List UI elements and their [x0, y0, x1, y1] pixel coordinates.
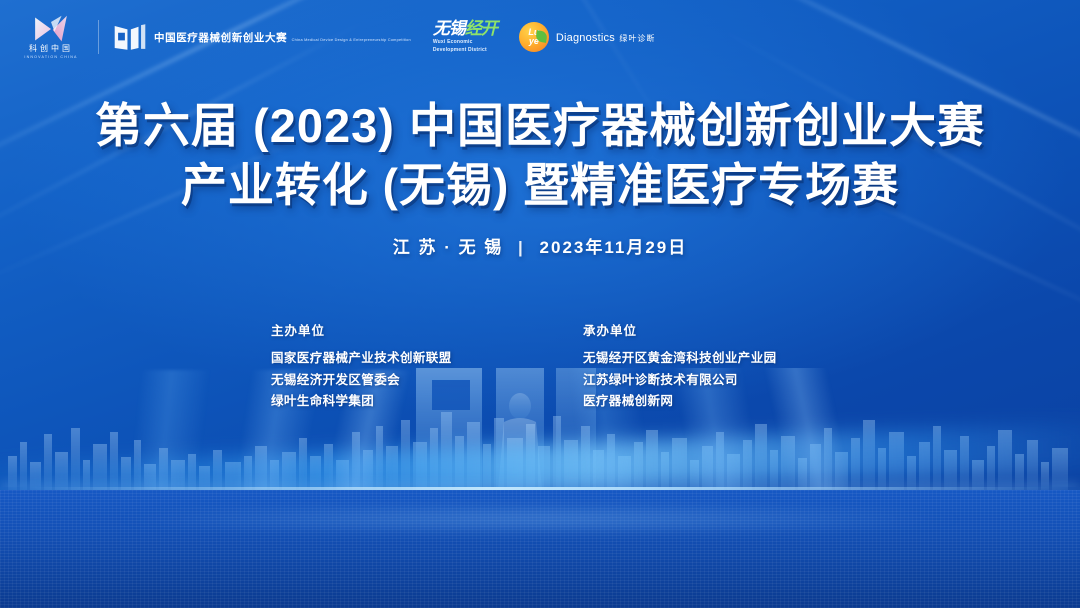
organizer-item: 无锡经济开发区管委会: [271, 370, 497, 392]
date-text: 2023年11月29日: [540, 238, 688, 257]
logo-luye-en: Diagnostics: [556, 32, 615, 44]
organizer-column-coorganizer: 承办单位 无锡经开区黄金湾科技创业产业园 江苏绿叶诊断技术有限公司 医疗器械创新…: [583, 320, 809, 413]
organizer-heading: 主办单位: [271, 320, 497, 339]
title-block: 第六届 (2023) 中国医疗器械创新创业大赛 产业转化 (无锡) 暨精准医疗专…: [0, 96, 1080, 258]
logo-wuxi-cn-part1: 无锡: [433, 19, 465, 38]
logo-innovation-china-en: INNOVATION CHINA: [24, 56, 77, 60]
luye-circle-icon: Lu ye: [519, 22, 549, 52]
date-location-bar: 江 苏 · 无 锡 | 2023年11月29日: [0, 233, 1080, 258]
logo-luye-text: Diagnostics 绿叶诊断: [556, 28, 656, 46]
organizer-item: 江苏绿叶诊断技术有限公司: [583, 370, 809, 392]
water-glow: [108, 504, 972, 534]
organizer-section: 主办单位 国家医疗器械产业技术创新联盟 无锡经济开发区管委会 绿叶生命科学集团 …: [0, 320, 1080, 413]
date-divider: |: [518, 238, 525, 258]
organizer-item: 无锡经开区黄金湾科技创业产业园: [583, 348, 809, 370]
bird-logo-icon: [31, 14, 71, 44]
logo-divider: [98, 20, 99, 54]
logo-cmdc: 中国医疗器械创新创业大赛 China Medical Device Design…: [113, 22, 411, 52]
sponsor-logo-bar: 科创中国 INNOVATION CHINA 中国医疗器械创新创业大赛 China…: [18, 14, 655, 60]
title-line-2: 产业转化 (无锡) 暨精准医疗专场赛: [0, 156, 1080, 215]
location-text: 江 苏 · 无 锡: [393, 238, 504, 257]
open-door-logo-icon: [113, 22, 147, 52]
logo-cmdc-cn: 中国医疗器械创新创业大赛: [154, 32, 287, 44]
event-poster: 科创中国 INNOVATION CHINA 中国医疗器械创新创业大赛 China…: [0, 0, 1080, 608]
logo-wuxi-cn-part2: 经开: [465, 19, 497, 38]
logo-cmdc-text: 中国医疗器械创新创业大赛 China Medical Device Design…: [154, 28, 411, 46]
organizer-item: 绿叶生命科学集团: [271, 391, 497, 413]
organizer-heading: 承办单位: [583, 320, 809, 339]
logo-luye-diagnostics: Lu ye Diagnostics 绿叶诊断: [519, 22, 656, 52]
organizer-item: 医疗器械创新网: [583, 391, 809, 413]
logo-innovation-china-cn: 科创中国: [29, 45, 73, 53]
logo-wuxi-en-line2: Development District: [433, 47, 487, 53]
logo-innovation-china: 科创中国 INNOVATION CHINA: [18, 14, 84, 60]
title-line-1: 第六届 (2023) 中国医疗器械创新创业大赛: [0, 96, 1080, 156]
logo-wuxi-edd: 无锡经开 Wuxi Economic Development District: [433, 20, 497, 54]
logo-luye-cn: 绿叶诊断: [619, 34, 655, 43]
calligraphy-logo-icon: 无锡经开: [433, 20, 497, 37]
organizer-item: 国家医疗器械产业技术创新联盟: [271, 348, 497, 370]
organizer-column-host: 主办单位 国家医疗器械产业技术创新联盟 无锡经济开发区管委会 绿叶生命科学集团: [271, 320, 497, 413]
logo-cmdc-en: China Medical Device Design & Entreprene…: [292, 38, 411, 42]
logo-wuxi-en-line1: Wuxi Economic: [433, 39, 473, 45]
